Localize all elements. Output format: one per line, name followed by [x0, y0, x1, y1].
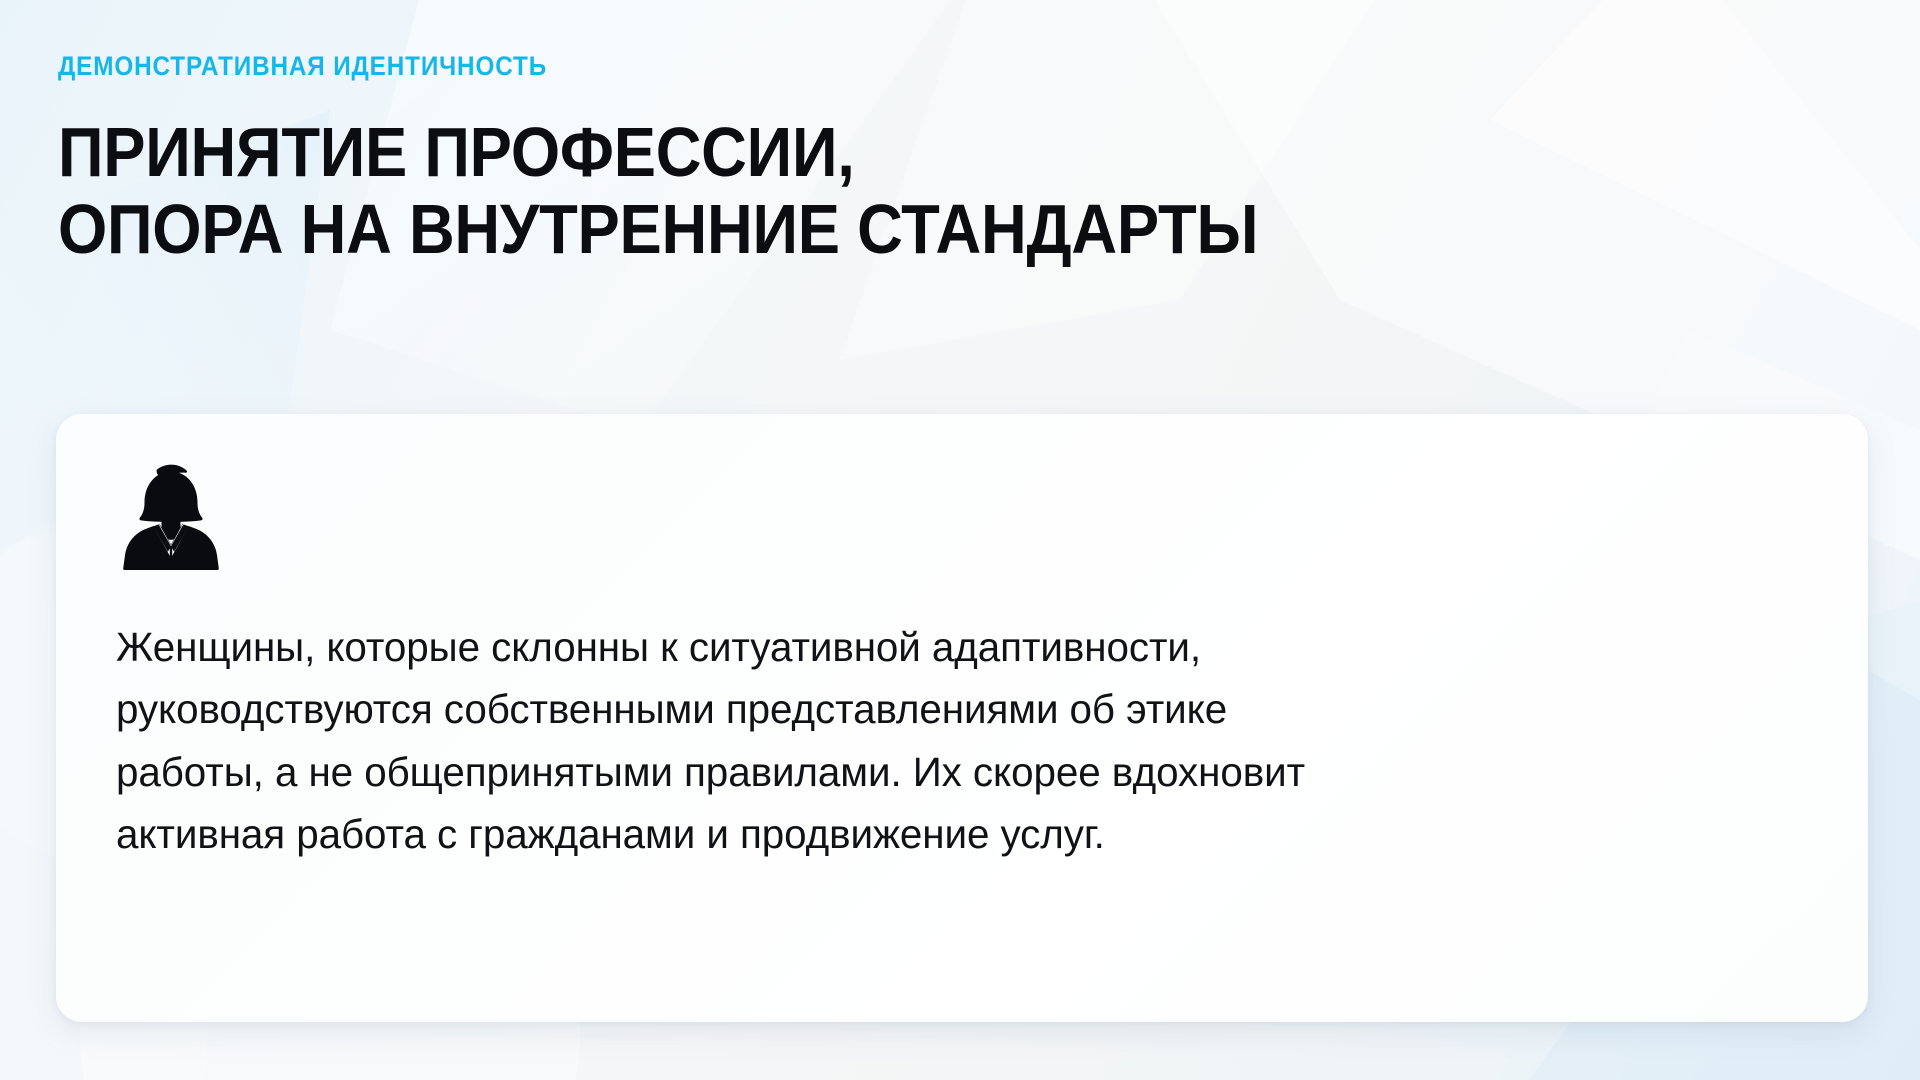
- page-title: ПРИНЯТИЕ ПРОФЕССИИ, ОПОРА НА ВНУТРЕННИЕ …: [58, 114, 1597, 268]
- headline-line-1: ПРИНЯТИЕ ПРОФЕССИИ,: [58, 114, 1597, 191]
- slide-header: ДЕМОНСТРАТИВНАЯ ИДЕНТИЧНОСТЬ ПРИНЯТИЕ ПР…: [58, 52, 1758, 268]
- card-body-text: Женщины, которые склонны к ситуативной а…: [116, 616, 1794, 865]
- eyebrow-label: ДЕМОНСТРАТИВНАЯ ИДЕНТИЧНОСТЬ: [58, 52, 1588, 80]
- body-line-2: руководствуются собственными представлен…: [116, 678, 1794, 740]
- headline-line-2: ОПОРА НА ВНУТРЕННИЕ СТАНДАРТЫ: [58, 191, 1597, 268]
- slide-root: ДЕМОНСТРАТИВНАЯ ИДЕНТИЧНОСТЬ ПРИНЯТИЕ ПР…: [0, 0, 1920, 1080]
- content-card: Женщины, которые склонны к ситуативной а…: [56, 414, 1868, 1022]
- content-card-inner: Женщины, которые склонны к ситуативной а…: [116, 458, 1820, 982]
- body-line-1: Женщины, которые склонны к ситуативной а…: [116, 616, 1794, 678]
- businesswoman-silhouette-icon: [116, 458, 226, 570]
- body-line-4: активная работа с гражданами и продвижен…: [116, 803, 1794, 865]
- body-line-3: работы, а не общепринятыми правилами. Их…: [116, 741, 1794, 803]
